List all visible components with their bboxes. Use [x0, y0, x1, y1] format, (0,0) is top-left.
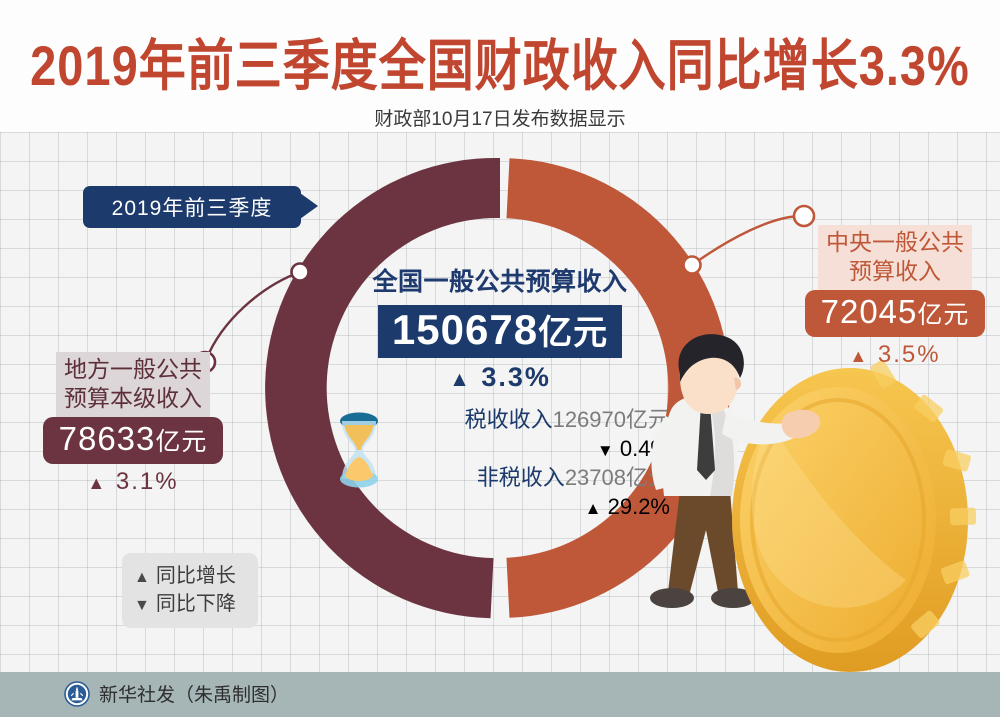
period-callout-label: 2019年前三季度: [112, 192, 273, 222]
credit-text: 新华社发（朱禹制图）: [99, 680, 289, 707]
legend-item-increase: ▲同比增长: [134, 562, 246, 590]
xinhua-logo-icon: [64, 681, 90, 707]
tax-label: 税收收入: [465, 407, 553, 432]
center-value-badge: 150678亿元: [378, 305, 622, 358]
up-arrow-icon-legend: ▲: [134, 569, 150, 586]
local-revenue-title: 地方一般公共 预算本级收入: [56, 352, 210, 417]
up-arrow-icon: ▲: [449, 368, 472, 391]
local-revenue-change-value: 3.1%: [116, 468, 179, 495]
nontax-label: 非税收入: [477, 465, 565, 490]
central-revenue-change-value: 3.5%: [878, 341, 941, 368]
credit-line: 新华社发（朱禹制图）: [64, 680, 289, 707]
page-subtitle: 财政部10月17日发布数据显示: [0, 104, 1000, 131]
local-revenue-label: 地方一般公共 预算本级收入 78633亿元 ▲ 3.1%: [18, 352, 248, 496]
man-pushing-coin-illustration: [620, 330, 1000, 680]
legend-label-increase: 同比增长: [156, 565, 236, 587]
down-arrow-icon-legend: ▼: [134, 597, 150, 614]
up-arrow-icon-central: ▲: [849, 346, 869, 366]
central-revenue-badge: 72045亿元: [805, 290, 986, 337]
hourglass-icon: [336, 409, 382, 491]
central-revenue-label: 中央一般公共 预算收入 72045亿元 ▲ 3.5%: [790, 225, 1000, 369]
center-value: 150678: [392, 306, 538, 353]
center-change: ▲ 3.3%: [330, 362, 670, 393]
central-revenue-unit: 亿元: [917, 301, 969, 329]
local-revenue-value: 78633: [59, 420, 156, 457]
central-revenue-title: 中央一般公共 预算收入: [818, 225, 972, 290]
local-revenue-badge: 78633亿元: [43, 417, 224, 464]
center-summary: 全国一般公共预算收入 150678亿元 ▲ 3.3% 税收收入126970亿元 …: [330, 262, 670, 521]
shoe-left: [650, 588, 694, 608]
legend-label-decrease: 同比下降: [156, 593, 236, 615]
central-revenue-value: 72045: [821, 293, 918, 330]
up-arrow-icon-local: ▲: [87, 473, 107, 493]
center-heading: 全国一般公共预算收入: [330, 262, 670, 298]
legend: ▲同比增长 ▼同比下降: [122, 553, 258, 628]
infographic-canvas: 2019年前三季度全国财政收入同比增长3.3% 财政部10月17日发布数据显示 …: [0, 0, 1000, 717]
trousers: [668, 490, 738, 592]
local-revenue-unit: 亿元: [155, 428, 207, 456]
legend-item-decrease: ▼同比下降: [134, 590, 246, 618]
local-revenue-change: ▲ 3.1%: [18, 468, 248, 496]
down-arrow-icon: ▼: [597, 441, 614, 460]
period-callout: 2019年前三季度: [83, 186, 301, 228]
center-breakdown: 税收收入126970亿元 ▼ 0.4% 非税收入23708亿元 ▲ 29.2%: [330, 405, 670, 521]
page-title: 2019年前三季度全国财政收入同比增长3.3%: [0, 20, 1000, 101]
up-arrow-icon-nontax: ▲: [585, 499, 602, 518]
central-revenue-change: ▲ 3.5%: [790, 341, 1000, 369]
center-change-value: 3.3%: [481, 362, 551, 392]
center-unit: 亿元: [538, 314, 608, 352]
